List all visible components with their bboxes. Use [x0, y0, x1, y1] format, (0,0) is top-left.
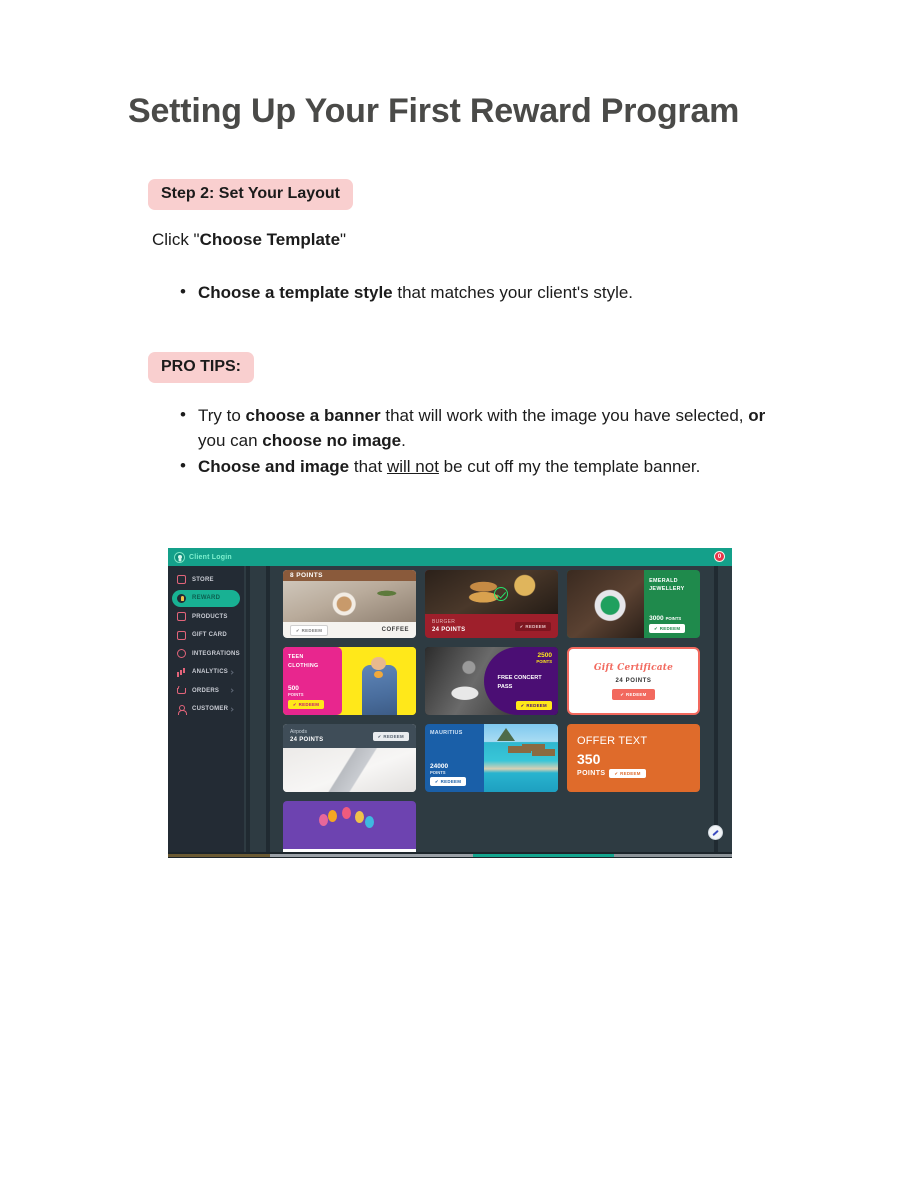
page-title: Setting Up Your First Reward Program	[128, 92, 739, 131]
analytics-icon	[177, 668, 186, 677]
template-card-teen-clothing[interactable]: TEEN CLOTHING 500 POINTS REDEEM	[283, 647, 416, 715]
template-card-gift-certificate[interactable]: Gift Certificate 24 POINTS REDEEM	[567, 647, 700, 715]
list-item: Choose and image that will not be cut of…	[176, 455, 776, 480]
card-text-block: BURGER 24 POINTS	[432, 619, 465, 633]
sidebar-item-label: ORDERS	[192, 688, 219, 694]
reward-icon	[177, 594, 186, 603]
card-footer: REDEEM COFFEE	[283, 622, 416, 638]
card-points-value: 3000	[649, 615, 663, 622]
sidebar-item-products[interactable]: PRODUCTS	[172, 608, 240, 625]
card-points-unit: POINTS	[498, 659, 552, 664]
step-bullet-bold: Choose a template style	[198, 283, 393, 302]
scroll-segment	[473, 854, 614, 857]
click-bold-label: Choose Template	[200, 230, 340, 249]
card-title-block: EMERALD JEWELLERY	[649, 577, 695, 593]
chevron-right-icon	[229, 670, 233, 674]
horizontal-scrollbar[interactable]	[168, 852, 732, 858]
tip1-bold2: or	[748, 406, 765, 425]
integrations-icon	[177, 649, 186, 658]
sidebar-item-label: GIFT CARD	[192, 632, 227, 638]
sidebar-item-label: INTEGRATIONS	[192, 651, 240, 657]
card-points-value: 24000	[430, 763, 479, 770]
template-card-mauritius[interactable]: MAURITIUS 24000 POINTS REDEEM	[425, 724, 558, 792]
airpods-image	[283, 748, 416, 792]
app-topbar: Client Login 0	[168, 548, 732, 566]
cart-icon	[177, 686, 186, 695]
card-points-unit: POINTS	[666, 616, 682, 621]
card-title: MAURITIUS	[430, 730, 479, 736]
card-title: Gift Certificate	[594, 663, 673, 673]
click-suffix: "	[340, 230, 346, 249]
card-title-line1: FREE CONCERT	[498, 674, 552, 683]
card-header-points: 8 POINTS	[283, 570, 416, 581]
chevron-right-icon	[229, 707, 233, 711]
step-badge: Step 2: Set Your Layout	[148, 179, 353, 210]
tip1-bold1: choose a banner	[246, 406, 381, 425]
embedded-app-screenshot: Client Login 0 STORE REWARD PRODUCTS GIF…	[168, 548, 732, 858]
template-stage: 8 POINTS REDEEM COFFEE BURGER	[244, 566, 732, 852]
sidebar-item-analytics[interactable]: ANALYTICS	[172, 664, 240, 681]
sidebar-item-customer[interactable]: CUSTOMER	[172, 701, 240, 718]
tip2-bold1: Choose and image	[198, 457, 349, 476]
template-card-coffee[interactable]: 8 POINTS REDEEM COFFEE	[283, 570, 416, 638]
sidebar-item-label: REWARD	[192, 595, 220, 601]
card-panel: EMERALD JEWELLERY 3000 POINTS REDEEM	[644, 570, 700, 638]
tip2-part2: be cut off my the template banner.	[439, 457, 700, 476]
balloon-icon	[319, 814, 328, 826]
card-points-block: 500 POINTS REDEEM	[288, 685, 337, 709]
card-points-row: POINTS REDEEM	[577, 769, 690, 778]
balloon-icon	[328, 810, 337, 822]
redeem-button[interactable]: REDEEM	[609, 769, 645, 778]
card-points-block: 3000 POINTS REDEEM	[649, 615, 695, 633]
chevron-right-icon	[229, 688, 233, 692]
card-header: Airpods 24 POINTS REDEEM	[283, 724, 416, 748]
card-points-unit: POINTS	[430, 770, 479, 775]
scroll-segment	[270, 854, 473, 857]
card-title-line2: PASS	[498, 683, 552, 692]
card-points-block: 2500 POINTS	[498, 652, 552, 664]
tip1-part2: that will work with the image you have s…	[381, 406, 749, 425]
card-title: OFFER TEXT	[577, 735, 690, 747]
card-points-row: 3000 POINTS	[649, 615, 695, 622]
step-bullet-rest: that matches your client's style.	[393, 283, 633, 302]
click-prefix: Click "	[152, 230, 200, 249]
click-instruction: Click "Choose Template"	[152, 230, 346, 250]
card-points: 24 POINTS	[615, 678, 651, 684]
redeem-button[interactable]: REDEEM	[373, 732, 409, 741]
pro-tips-badge: PRO TIPS:	[148, 352, 254, 383]
template-card-offer-text[interactable]: OFFER TEXT 350 POINTS REDEEM	[567, 724, 700, 792]
sidebar-item-gift-card[interactable]: GIFT CARD	[172, 627, 240, 644]
redeem-button[interactable]: REDEEM	[290, 625, 328, 636]
card-panel: TEEN CLOTHING 500 POINTS REDEEM	[283, 647, 342, 715]
card-points-value: 350	[577, 751, 690, 767]
logo-label: Client Login	[189, 554, 232, 561]
coffee-image	[283, 581, 416, 622]
card-points: 24 POINTS	[290, 737, 323, 743]
card-title-line2: JEWELLERY	[649, 585, 695, 593]
redeem-button[interactable]: REDEEM	[515, 622, 551, 631]
list-item: Choose a template style that matches you…	[176, 281, 816, 306]
template-card-airpods[interactable]: Airpods 24 POINTS REDEEM	[283, 724, 416, 792]
sidebar-item-orders[interactable]: ORDERS	[172, 682, 240, 699]
card-points-value: 500	[288, 685, 337, 692]
sidebar-item-reward[interactable]: REWARD	[172, 590, 240, 607]
pencil-edit-icon[interactable]	[708, 825, 723, 840]
template-card-emerald-jewellery[interactable]: EMERALD JEWELLERY 3000 POINTS REDEEM	[567, 570, 700, 638]
pro-tips-list: Try to choose a banner that will work wi…	[176, 404, 776, 480]
sidebar-item-integrations[interactable]: INTEGRATIONS	[172, 645, 240, 662]
template-card-burger[interactable]: BURGER 24 POINTS REDEEM	[425, 570, 558, 638]
card-title-block: FREE CONCERT PASS	[498, 674, 552, 692]
alert-badge[interactable]: 0	[714, 551, 725, 562]
scroll-segment	[168, 854, 270, 857]
card-name: Airpods	[290, 729, 323, 735]
balloons-image	[283, 801, 416, 849]
redeem-button[interactable]: REDEEM	[430, 777, 466, 786]
card-points: 24 POINTS	[432, 627, 465, 633]
app-sidebar: STORE REWARD PRODUCTS GIFT CARD INTEGRAT…	[168, 566, 244, 852]
store-icon	[177, 575, 186, 584]
document-page: Setting Up Your First Reward Program Ste…	[0, 0, 920, 1190]
card-title-line1: EMERALD	[649, 577, 695, 585]
card-title-block: TEEN CLOTHING	[288, 653, 337, 670]
products-icon	[177, 612, 186, 621]
card-points-value: 2500	[498, 652, 552, 659]
template-card-free-concert-pass[interactable]: 2500 POINTS FREE CONCERT PASS REDEEM	[425, 647, 558, 715]
template-card-birthday-gift[interactable]: Birthday Gift 350 POINTS REDEEM	[283, 801, 416, 858]
user-circle-icon	[174, 552, 185, 563]
sidebar-item-label: ANALYTICS	[192, 669, 228, 675]
balloon-icon	[355, 811, 364, 823]
client-login-logo[interactable]: Client Login	[174, 552, 232, 563]
card-text-block: Airpods 24 POINTS	[290, 729, 323, 743]
tip1-bold3: choose no image	[262, 431, 401, 450]
tip1-part4: .	[401, 431, 406, 450]
card-panel: MAURITIUS 24000 POINTS REDEEM	[425, 724, 484, 792]
card-title-line2: CLOTHING	[288, 662, 337, 671]
balloon-icon	[365, 816, 374, 828]
check-circle-icon	[494, 587, 508, 601]
burger-image	[425, 570, 558, 614]
emerald-jewellery-image	[567, 570, 644, 638]
redeem-button[interactable]: REDEEM	[649, 624, 685, 633]
scroll-segment	[614, 854, 732, 857]
mauritius-image	[484, 724, 558, 792]
redeem-button[interactable]: REDEEM	[288, 700, 324, 709]
tip2-underline: will not	[387, 457, 439, 476]
teen-clothing-image	[342, 647, 416, 715]
card-points-unit: POINTS	[288, 692, 337, 697]
sidebar-item-label: PRODUCTS	[192, 614, 228, 620]
tip2-part1: that	[349, 457, 387, 476]
sidebar-item-label: STORE	[192, 577, 214, 583]
balloon-icon	[342, 807, 351, 819]
card-panel: 2500 POINTS FREE CONCERT PASS REDEEM	[484, 647, 558, 715]
step-bullet-list: Choose a template style that matches you…	[176, 281, 816, 306]
card-name: BURGER	[432, 619, 465, 625]
card-title-line1: TEEN	[288, 653, 337, 662]
stage-rail-right	[714, 566, 718, 852]
card-footer: BURGER 24 POINTS REDEEM	[425, 614, 558, 638]
redeem-button[interactable]: REDEEM	[516, 701, 552, 710]
card-points-unit: POINTS	[577, 770, 605, 777]
card-title: COFFEE	[382, 627, 409, 633]
list-item: Try to choose a banner that will work wi…	[176, 404, 776, 453]
tip1-part3: you can	[198, 431, 262, 450]
sidebar-item-label: CUSTOMER	[192, 706, 228, 712]
gift-card-icon	[177, 631, 186, 640]
card-points-block: 24000 POINTS REDEEM	[430, 763, 479, 786]
user-icon	[177, 705, 186, 714]
tip1-part1: Try to	[198, 406, 246, 425]
redeem-button[interactable]: REDEEM	[612, 689, 654, 700]
sidebar-item-store[interactable]: STORE	[172, 571, 240, 588]
template-card-grid: 8 POINTS REDEEM COFFEE BURGER	[283, 570, 700, 852]
